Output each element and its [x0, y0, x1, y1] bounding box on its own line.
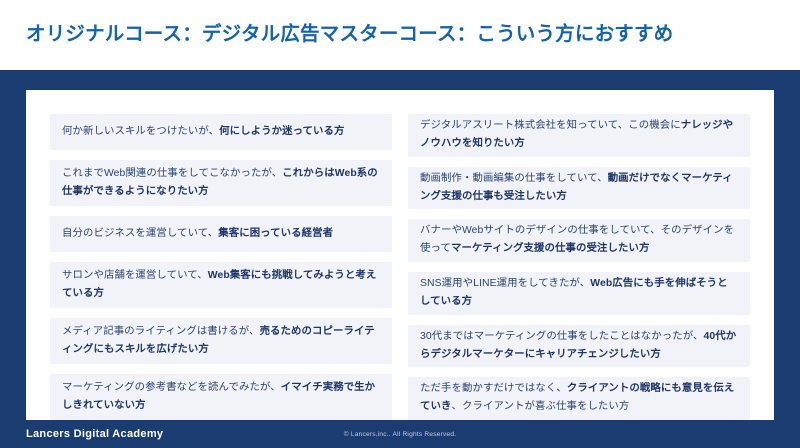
item-text-bold: 集客に困っている経営者 — [218, 228, 333, 239]
item-text-plain-tail: 、クライアントが喜ぶ仕事をしたい方 — [451, 401, 629, 412]
right-column: デジタルアスリート株式会社を知っていて、この機会にナレッジやノウハウを知りたい方… — [408, 114, 750, 420]
two-column-layout: 何か新しいスキルをつけたいが、何にしようか迷っている方 これまでWeb関連の仕事… — [26, 90, 774, 420]
left-column: 何か新しいスキルをつけたいが、何にしようか迷っている方 これまでWeb関連の仕事… — [50, 114, 392, 420]
footer-copyright: © Lancers,inc.. All Rights Reserved. — [344, 431, 456, 438]
item-text-plain: 自分のビジネスを運営していて、 — [62, 228, 218, 239]
list-item: メディア記事のライティングは書けるが、売るためのコピーライティングにもスキルを広… — [50, 318, 392, 364]
footer-brand-logo: Lancers Digital Academy — [26, 428, 163, 440]
item-text-plain: デジタルアスリート株式会社を知っていて、この機会に — [420, 120, 681, 131]
slide-root: オリジナルコース：デジタル広告マスターコース：こういう方におすすめ 何か新しいス… — [0, 0, 800, 448]
list-item: 動画制作・動画編集の仕事をしていて、動画だけでなくマーケティング支援の仕事も受注… — [408, 167, 750, 210]
list-item: デジタルアスリート株式会社を知っていて、この機会にナレッジやノウハウを知りたい方 — [408, 114, 750, 157]
item-text-bold: 何にしようか迷っている方 — [219, 126, 344, 137]
item-text-plain: メディア記事のライティングは書けるが、 — [62, 326, 260, 337]
list-item: SNS運用やLINE運用をしてきたが、Web広告にも手を伸ばそうとしている方 — [408, 272, 750, 315]
list-item: バナーやWebサイトのデザインの仕事をしていて、そのデザインを使ってマーケティン… — [408, 219, 750, 262]
item-text-plain: マーケティングの参考書などを読んでみたが、 — [62, 382, 281, 393]
slide-header: オリジナルコース：デジタル広告マスターコース：こういう方におすすめ — [0, 0, 800, 70]
slide-footer: Lancers Digital Academy © Lancers,inc.. … — [0, 420, 800, 448]
item-text-plain: サロンや店舗を運営していて、 — [62, 270, 208, 281]
list-item: 自分のビジネスを運営していて、集客に困っている経営者 — [50, 216, 392, 252]
page-title: オリジナルコース：デジタル広告マスターコース：こういう方におすすめ — [26, 23, 673, 46]
item-text-plain: 30代まではマーケティングの仕事をしたことはなかったが、 — [420, 331, 703, 342]
list-item: サロンや店舗を運営していて、Web集客にも挑戦してみようと考えている方 — [50, 262, 392, 308]
item-text-plain: 何か新しいスキルをつけたいが、 — [62, 126, 219, 137]
list-item: マーケティングの参考書などを読んでみたが、イマイチ実務で生かしきれていない方 — [50, 374, 392, 420]
item-text-plain: これまでWeb関連の仕事をしてこなかったが、 — [62, 168, 282, 179]
item-text-plain: 動画制作・動画編集の仕事をしていて、 — [420, 173, 608, 184]
list-item: 30代まではマーケティングの仕事をしたことはなかったが、40代からデジタルマーケ… — [408, 325, 750, 368]
list-item: ただ手を動かすだけではなく、クライアントの戦略にも意見を伝えていき、クライアント… — [408, 377, 750, 420]
content-card: 何か新しいスキルをつけたいが、何にしようか迷っている方 これまでWeb関連の仕事… — [26, 90, 774, 420]
list-item: 何か新しいスキルをつけたいが、何にしようか迷っている方 — [50, 114, 392, 150]
item-text-bold: マーケティング支援の仕事の受注したい方 — [451, 243, 650, 254]
item-text-plain: SNS運用やLINE運用をしてきたが、 — [420, 278, 590, 289]
list-item: これまでWeb関連の仕事をしてこなかったが、これからはWeb系の仕事ができるよう… — [50, 160, 392, 206]
item-text-plain: ただ手を動かすだけではなく、 — [420, 383, 567, 394]
